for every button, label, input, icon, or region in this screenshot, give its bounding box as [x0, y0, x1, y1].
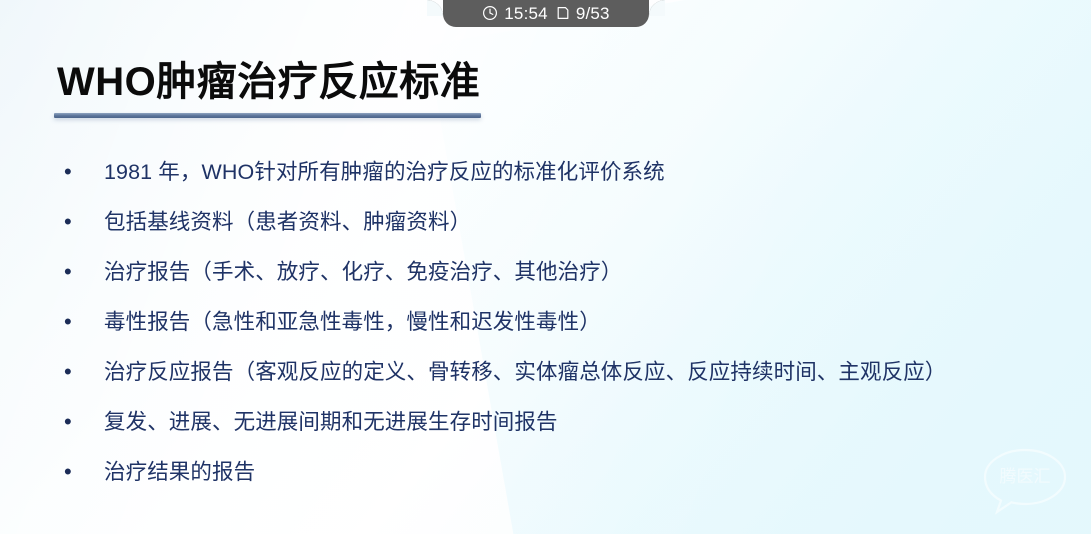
bullet-text: 毒性报告（急性和亚急性毒性，慢性和迟发性毒性） [104, 303, 1077, 341]
title-underline-rule [54, 113, 481, 118]
status-slide-counter: 9/53 [576, 5, 610, 22]
presentation-slide: 15:54 9/53 WHO肿瘤治疗反应标准 • 1981 年，WHO针对所有肿… [0, 0, 1091, 534]
list-item: • 1981 年，WHO针对所有肿瘤的治疗反应的标准化评价系统 [58, 153, 1077, 203]
bullet-marker-icon: • [58, 453, 104, 491]
list-item: • 治疗结果的报告 [58, 453, 1077, 503]
status-bar-notch: 15:54 9/53 [443, 0, 649, 27]
bullet-text: 治疗报告（手术、放疗、化疗、免疫治疗、其他治疗） [104, 253, 1077, 291]
bullet-text: 包括基线资料（患者资料、肿瘤资料） [104, 203, 1077, 241]
bullet-text: 复发、进展、无进展间期和无进展生存时间报告 [104, 403, 1077, 441]
bullet-list: • 1981 年，WHO针对所有肿瘤的治疗反应的标准化评价系统 • 包括基线资料… [58, 153, 1077, 503]
bullet-marker-icon: • [58, 203, 104, 241]
bullet-marker-icon: • [58, 153, 104, 191]
slide-title: WHO肿瘤治疗反应标准 [57, 60, 480, 104]
bullet-marker-icon: • [58, 253, 104, 291]
clock-icon [482, 5, 498, 21]
notch-corner-right [649, 0, 665, 16]
list-item: • 复发、进展、无进展间期和无进展生存时间报告 [58, 403, 1077, 453]
bullet-marker-icon: • [58, 303, 104, 341]
list-item: • 包括基线资料（患者资料、肿瘤资料） [58, 203, 1077, 253]
bullet-text: 治疗结果的报告 [104, 453, 1077, 491]
bullet-marker-icon: • [58, 403, 104, 441]
status-time: 15:54 [504, 5, 548, 22]
bullet-text: 治疗反应报告（客观反应的定义、骨转移、实体瘤总体反应、反应持续时间、主观反应） [104, 353, 1077, 391]
list-item: • 毒性报告（急性和亚急性毒性，慢性和迟发性毒性） [58, 303, 1077, 353]
status-bar-pill: 15:54 9/53 [443, 0, 649, 27]
slide-page-icon [556, 5, 570, 21]
notch-corner-left [427, 0, 443, 16]
list-item: • 治疗报告（手术、放疗、化疗、免疫治疗、其他治疗） [58, 253, 1077, 303]
bullet-text: 1981 年，WHO针对所有肿瘤的治疗反应的标准化评价系统 [104, 153, 1077, 191]
list-item: • 治疗反应报告（客观反应的定义、骨转移、实体瘤总体反应、反应持续时间、主观反应… [58, 353, 1077, 403]
bullet-marker-icon: • [58, 353, 104, 391]
